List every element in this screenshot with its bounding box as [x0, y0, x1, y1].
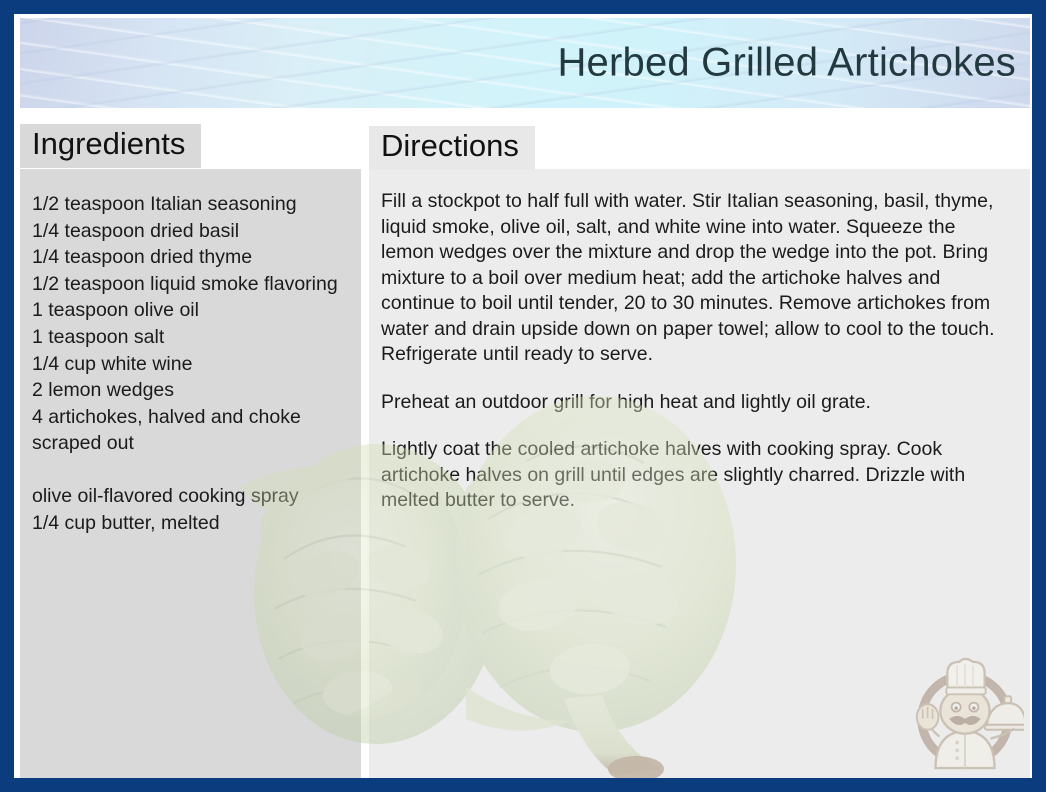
- ingredient-item: 1/4 teaspoon dried basil: [32, 218, 347, 245]
- page-title: Herbed Grilled Artichokes: [557, 41, 1016, 86]
- ingredient-item: 1 teaspoon olive oil: [32, 297, 347, 324]
- recipe-card: Herbed Grilled Artichokes Ingredients 1/…: [0, 0, 1046, 792]
- ingredient-item: 1/2 teaspoon liquid smoke flavoring: [32, 271, 347, 298]
- ingredient-item: 1/4 cup white wine: [32, 351, 347, 378]
- ingredients-section: Ingredients 1/2 teaspoon Italian seasoni…: [20, 124, 361, 778]
- directions-heading-tab: Directions: [369, 126, 535, 170]
- ingredient-item: 1/4 cup butter, melted: [32, 510, 347, 537]
- ingredient-spacer: [32, 457, 347, 483]
- direction-paragraph: Preheat an outdoor grill for high heat a…: [381, 390, 1012, 416]
- ingredient-item: 1/2 teaspoon Italian seasoning: [32, 191, 347, 218]
- header-banner: Herbed Grilled Artichokes: [20, 18, 1030, 108]
- ingredient-item: 1/4 teaspoon dried thyme: [32, 244, 347, 271]
- directions-paragraph-list: Fill a stockpot to half full with water.…: [381, 189, 1012, 514]
- ingredient-item: 2 lemon wedges: [32, 377, 347, 404]
- card-inner-surface: Herbed Grilled Artichokes Ingredients 1/…: [14, 14, 1032, 778]
- ingredient-item: olive oil-flavored cooking spray: [32, 483, 347, 510]
- ingredients-panel: 1/2 teaspoon Italian seasoning1/4 teaspo…: [20, 169, 361, 778]
- ingredients-heading-tab: Ingredients: [20, 124, 201, 168]
- ingredients-list: 1/2 teaspoon Italian seasoning1/4 teaspo…: [32, 191, 347, 536]
- directions-heading: Directions: [381, 129, 519, 164]
- direction-paragraph: Fill a stockpot to half full with water.…: [381, 189, 1012, 368]
- ingredient-item: 4 artichokes, halved and choke scraped o…: [32, 404, 347, 457]
- directions-panel: Fill a stockpot to half full with water.…: [369, 169, 1030, 778]
- ingredient-item: 1 teaspoon salt: [32, 324, 347, 351]
- directions-section: Directions Fill a stockpot to half full …: [369, 126, 1030, 778]
- direction-paragraph: Lightly coat the cooled artichoke halves…: [381, 437, 1012, 514]
- ingredients-heading: Ingredients: [32, 127, 185, 162]
